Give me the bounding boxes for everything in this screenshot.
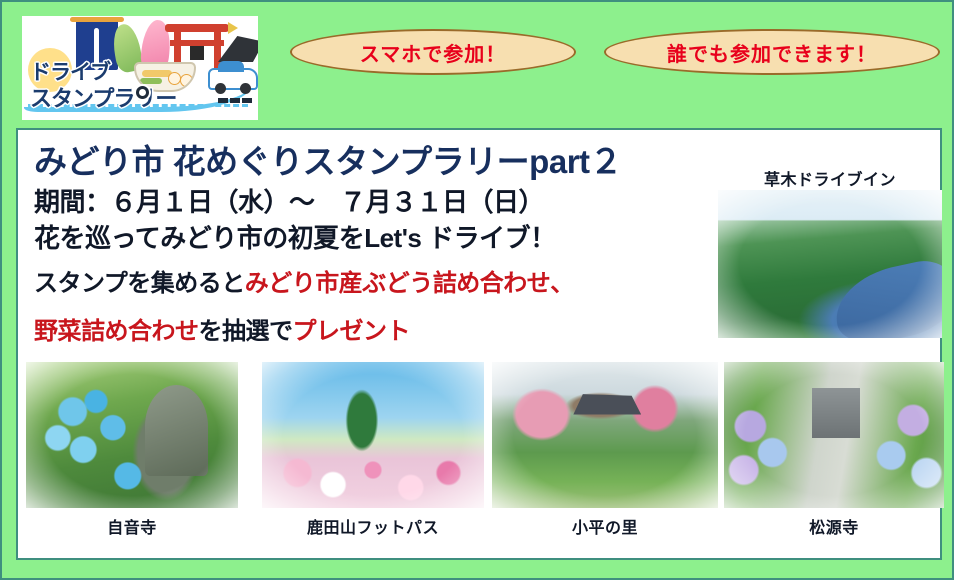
prize-line-2-black: を抽選で (199, 318, 293, 345)
logo-wordmark: ドライブ スタンプラリー (30, 60, 210, 112)
photo-odaira-no-sato (492, 362, 718, 508)
content-panel: みどり市 花めぐりスタンプラリーpart２ 期間：６月１日（水）～ ７月３１日（… (16, 128, 942, 560)
photo-caption-shikatayama-footpath: 鹿田山フットパス (262, 514, 484, 538)
badge-smartphone-participation: スマホで参加！ (290, 29, 576, 75)
prize-line-1-red: みどり市産ぶどう詰め合わせ、 (245, 270, 574, 297)
drive-stamp-rally-logo: ドライブ スタンプラリー (22, 16, 258, 120)
page-title: みどり市 花めぐりスタンプラリーpart２ (34, 142, 734, 182)
prize-line-2: 野菜詰め合わせを抽選でプレゼント (34, 316, 734, 348)
car-icon (208, 68, 258, 90)
photo-caption-jionji: 自音寺 (26, 514, 238, 538)
photo-caption-shogenji: 松源寺 (724, 514, 944, 538)
logo-line-1: ドライブ (30, 61, 110, 84)
photo-shikatayama-footpath-image (262, 362, 484, 508)
badge-anyone-can-join: 誰でも参加できます！ (604, 29, 940, 75)
photo-shogenji (724, 362, 944, 508)
photo-caption-drivein: 草木ドライブイン (718, 166, 942, 190)
photo-drivein (718, 190, 942, 338)
prize-line-2-red-b: プレゼント (293, 318, 411, 345)
stamp-rally-poster: ドライブ スタンプラリー スマホで参加！ 誰でも参加できます！ みどり市 花めぐ… (0, 0, 954, 580)
gold-flag-icon (228, 22, 238, 34)
headline-block: みどり市 花めぐりスタンプラリーpart２ 期間：６月１日（水）～ ７月３１日（… (34, 142, 734, 348)
photo-jionji (26, 362, 238, 508)
prize-line-1: スタンプを集めるとみどり市産ぶどう詰め合わせ、 (34, 268, 734, 300)
photo-shikatayama-footpath (262, 362, 484, 508)
event-tagline: 花を巡ってみどり市の初夏をLet's ドライブ！ (34, 220, 734, 256)
torii-plaque-icon (190, 46, 204, 60)
photo-shogenji-image (724, 362, 944, 508)
dashed-line-icon (218, 98, 252, 103)
logo-line-2: スタンプラリー (30, 86, 210, 112)
photo-caption-odaira-no-sato: 小平の里 (492, 514, 718, 538)
prize-line-1-black: スタンプを集めると (34, 270, 245, 297)
photo-odaira-no-sato-image (492, 362, 718, 508)
photo-drivein-image (718, 190, 942, 338)
event-period: 期間：６月１日（水）～ ７月３１日（日） (34, 184, 734, 220)
photo-jionji-image (26, 362, 238, 508)
prize-line-2-red-a: 野菜詰め合わせ (34, 318, 199, 345)
stamp-icon (134, 84, 151, 101)
